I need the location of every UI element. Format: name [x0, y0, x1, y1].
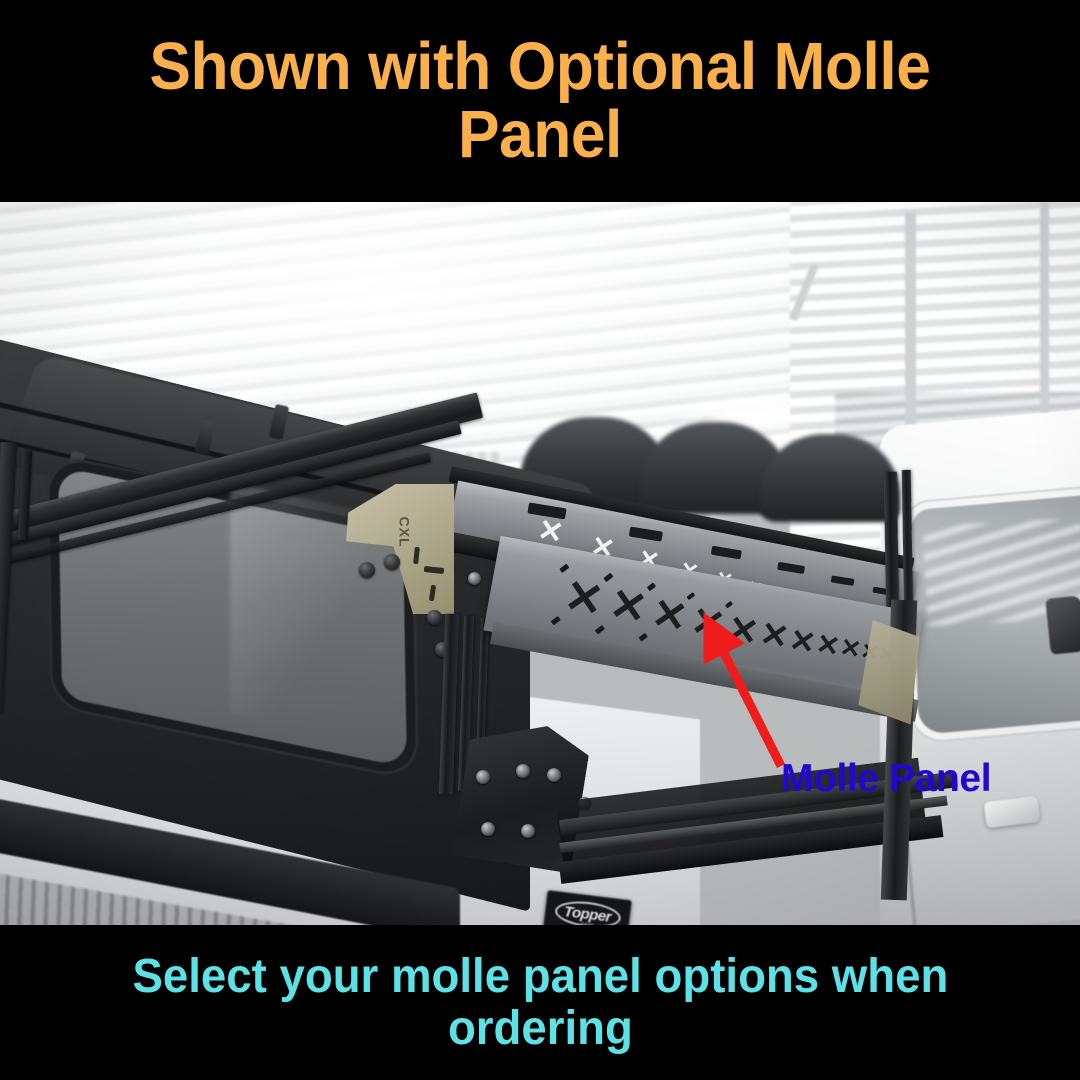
gusset-bolt [427, 610, 442, 625]
top-banner: Shown with Optional Molle Panel [0, 0, 1080, 202]
molle-x-slot: ✕ [688, 601, 728, 646]
gusset-bolt [359, 562, 375, 578]
rail-slot [629, 527, 663, 542]
side-mirror [1045, 595, 1080, 654]
top-banner-headline: Shown with Optional Molle Panel [94, 33, 987, 170]
bracket-bolt [547, 768, 561, 782]
molle-dash-slot [551, 616, 561, 625]
corner-plate-label: CXL [397, 517, 413, 548]
bracket-bolt [516, 764, 530, 778]
molle-dash-slot [559, 564, 569, 573]
molle-dash-slot [647, 582, 656, 591]
molle-dash-slot [639, 633, 648, 642]
promo-image: Shown with Optional Molle Panel TRD SPOR… [0, 0, 1080, 1080]
bottom-banner-caption: Select your molle panel options when ord… [47, 951, 1034, 1055]
bracket-bolt [476, 770, 490, 784]
rail-slot [777, 562, 805, 574]
rail-bolt [468, 572, 481, 585]
molle-x-slot: ✕ [724, 610, 761, 652]
bracket-bolt [521, 824, 535, 838]
rail-slot [711, 546, 742, 560]
bottom-banner: Select your molle panel options when ord… [0, 925, 1080, 1080]
molle-dash-slot [603, 573, 613, 582]
bracket-bolt [481, 822, 495, 836]
rail-slot [831, 575, 855, 586]
molle-x-slot: ✕ [757, 617, 791, 656]
molle-dash-slot [687, 592, 696, 600]
product-photo: TRD SPORT Topper .com [0, 202, 1080, 925]
molle-x-slot: ✕ [649, 592, 691, 640]
gusset-bolt [384, 554, 400, 570]
molle-x-slot: ✕ [606, 582, 650, 632]
molle-x-slot: ✕ [561, 572, 607, 624]
